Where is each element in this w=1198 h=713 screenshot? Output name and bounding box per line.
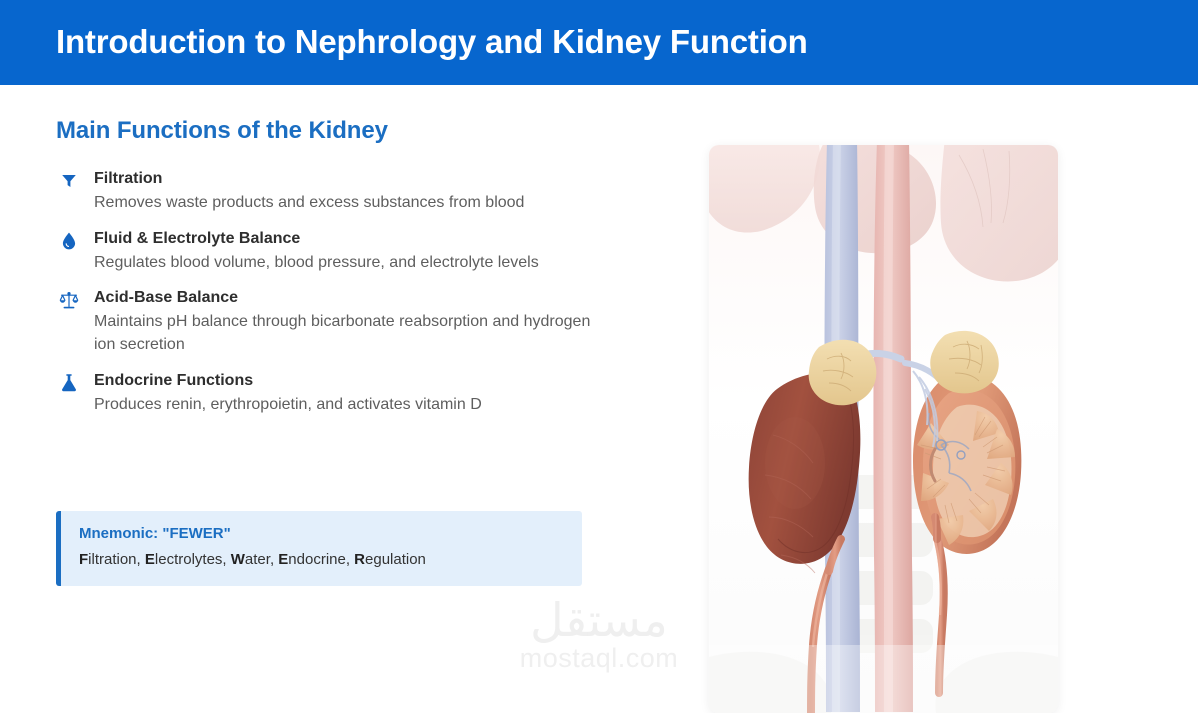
function-title: Filtration [94, 169, 656, 189]
watermark-arabic: مستقل [530, 597, 668, 643]
section-heading: Main Functions of the Kidney [56, 117, 656, 145]
mnemonic-expansion: Filtration, Electrolytes, Water, Endocri… [79, 550, 564, 570]
slide-body: Main Functions of the Kidney Filtration … [0, 85, 1198, 681]
functions-list: Filtration Removes waste products and ex… [56, 169, 656, 417]
function-title: Endocrine Functions [94, 371, 656, 391]
slide-header: Introduction to Nephrology and Kidney Fu… [0, 0, 1198, 85]
function-description: Regulates blood volume, blood pressure, … [94, 252, 594, 275]
function-title: Fluid & Electrolyte Balance [94, 229, 656, 249]
list-item: Filtration Removes waste products and ex… [56, 169, 656, 215]
list-item: Acid-Base Balance Maintains pH balance t… [56, 288, 656, 356]
function-description: Removes waste products and excess substa… [94, 192, 594, 215]
function-description: Produces renin, erythropoietin, and acti… [94, 394, 594, 417]
funnel-filter-icon [56, 170, 82, 192]
function-description: Maintains pH balance through bicarbonate… [94, 311, 594, 356]
kidney-anatomy-illustration [709, 145, 1058, 713]
watermark-latin: mostaql.com [520, 645, 679, 672]
water-droplet-icon [56, 230, 82, 252]
balance-scales-icon [56, 289, 82, 311]
page-title: Introduction to Nephrology and Kidney Fu… [56, 24, 808, 60]
list-item: Endocrine Functions Produces renin, eryt… [56, 371, 656, 417]
mnemonic-callout: Mnemonic: "FEWER" Filtration, Electrolyt… [56, 511, 582, 586]
list-item: Fluid & Electrolyte Balance Regulates bl… [56, 229, 656, 275]
conical-flask-icon [56, 372, 82, 394]
functions-column: Main Functions of the Kidney Filtration … [56, 117, 656, 431]
function-title: Acid-Base Balance [94, 288, 656, 308]
mnemonic-title: Mnemonic: "FEWER" [79, 525, 564, 542]
